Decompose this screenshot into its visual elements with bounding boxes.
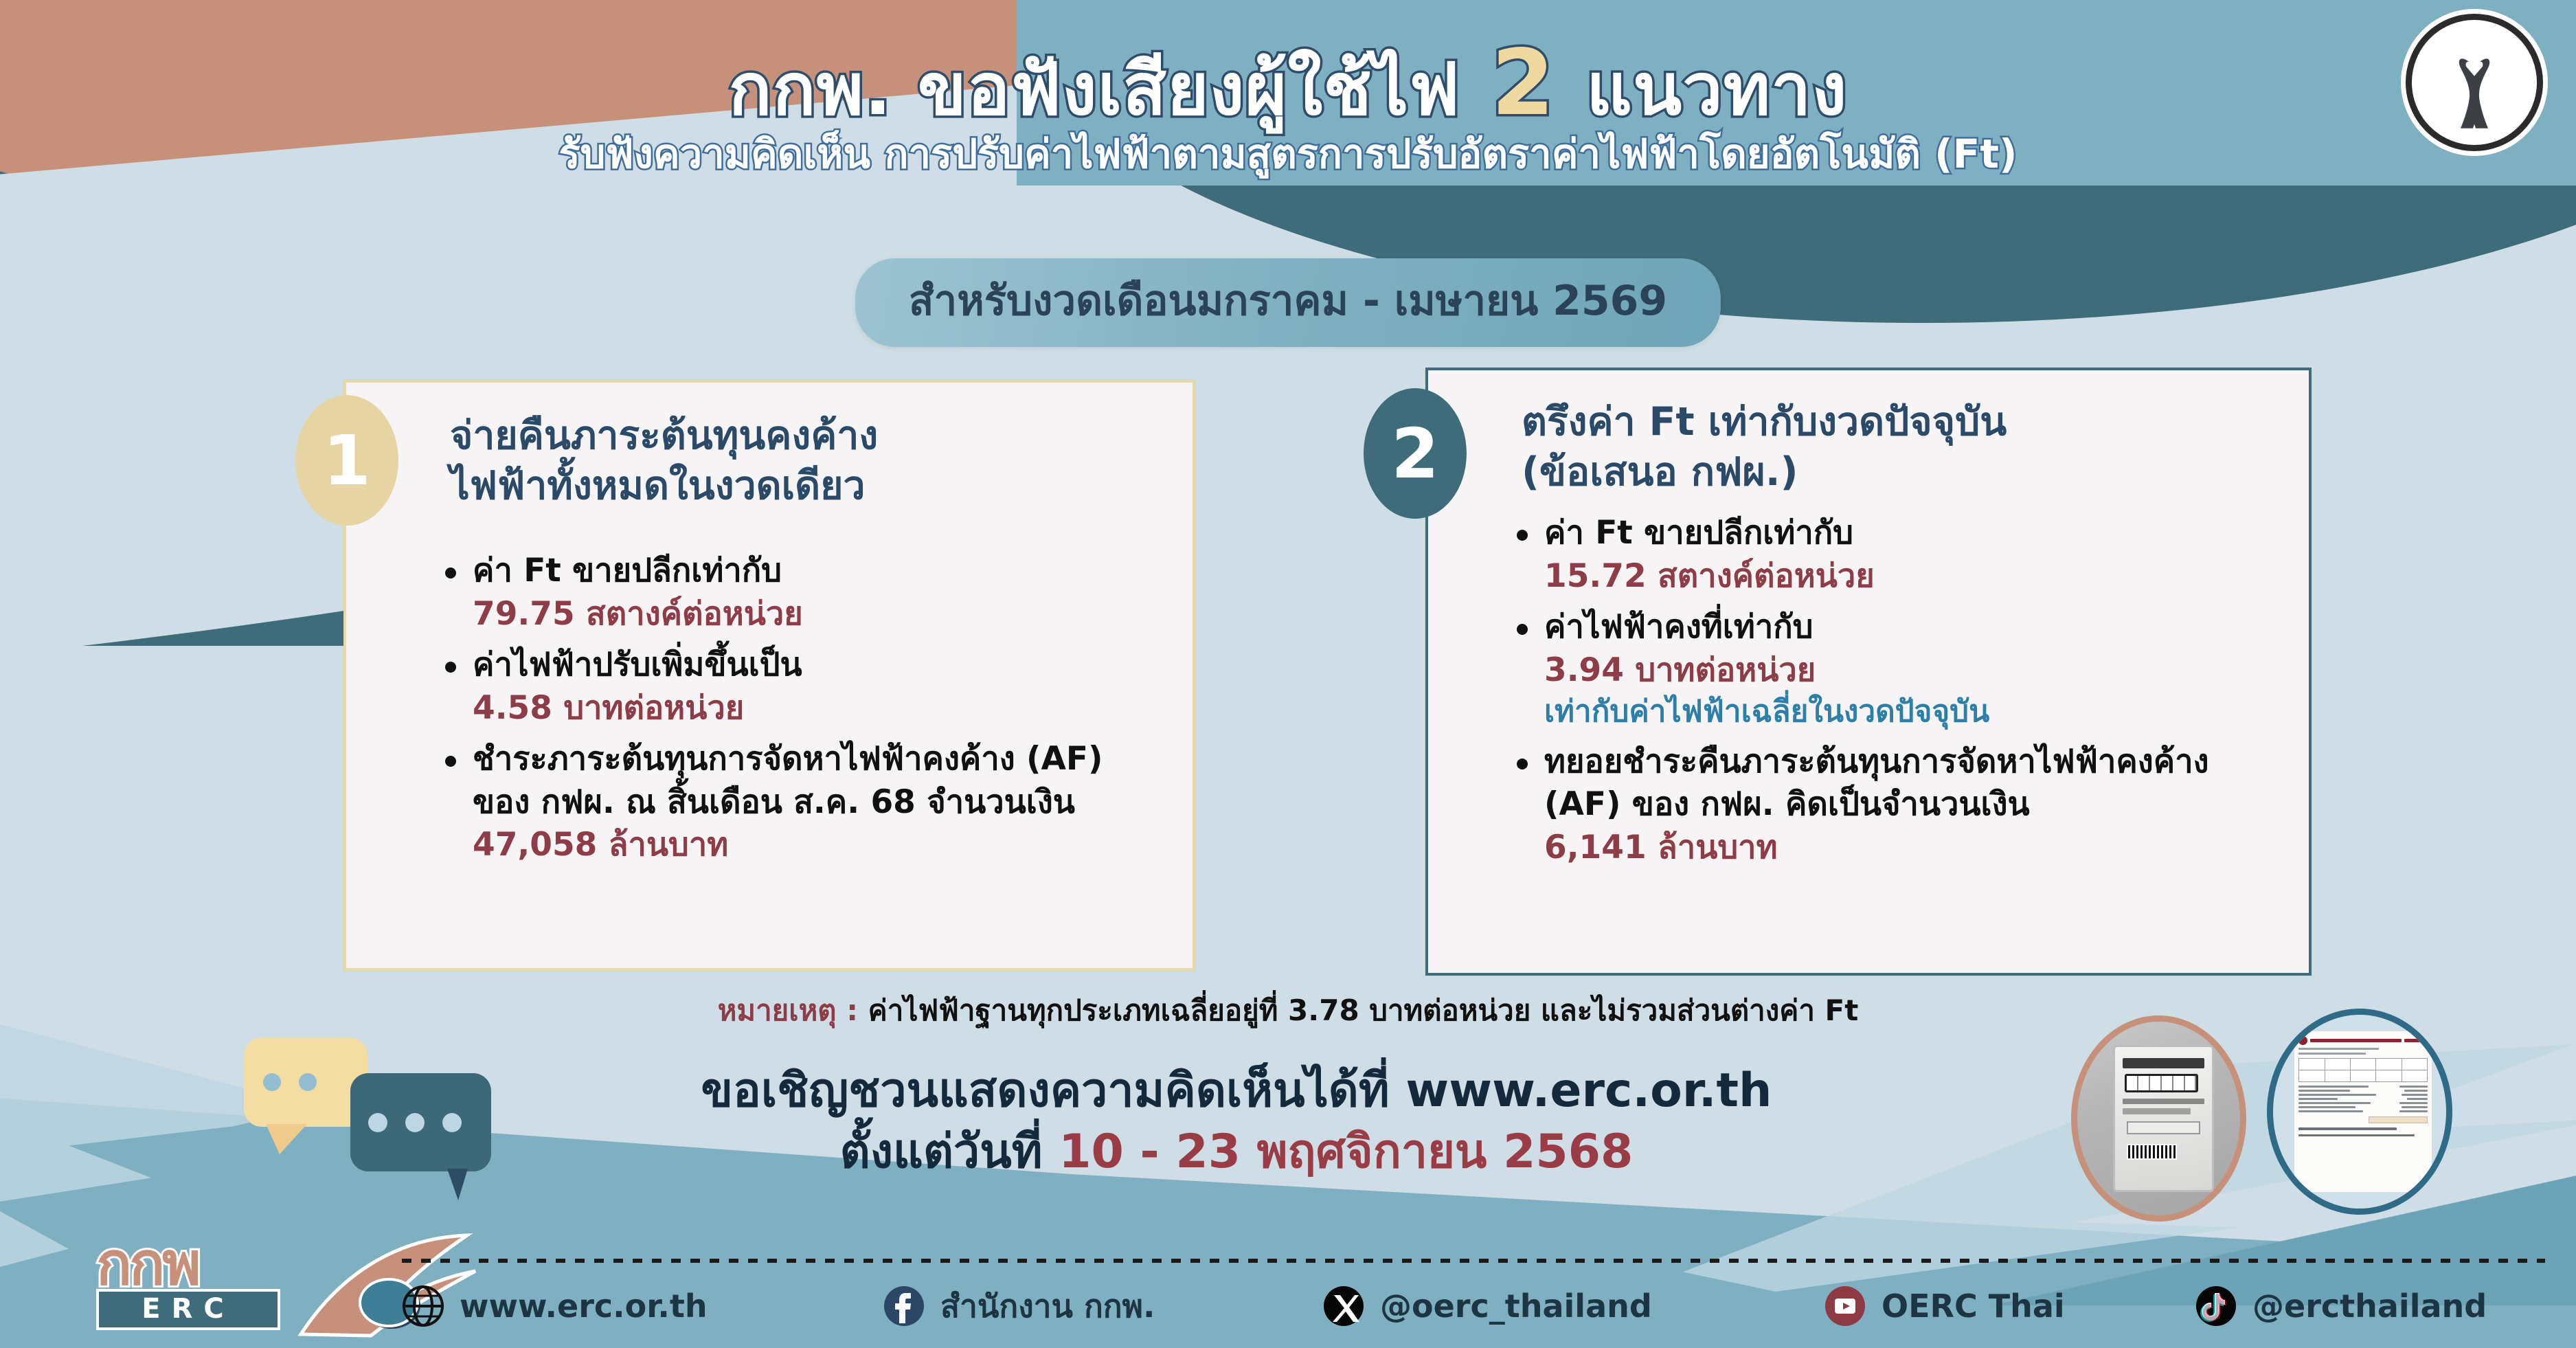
footer-divider xyxy=(402,1259,2545,1263)
bill-paper xyxy=(2294,1031,2432,1193)
infographic-canvas: กกพ. ขอฟังเสียงผู้ใช้ไฟ 2 แนวทาง รับฟังค… xyxy=(0,0,2576,1348)
option-1-heading-line1: จ่ายคืนภาระต้นทุนคงค้าง xyxy=(450,411,1144,461)
speech-bubble-icon-dark xyxy=(350,1073,491,1171)
list-item: ค่าไฟฟ้าปรับเพิ่มขึ้นเป็น 4.58 บาทต่อหน่… xyxy=(440,644,1175,730)
bill-total-amount xyxy=(2369,1116,2428,1123)
list-item: ชำระภาระต้นทุนการจัดหาไฟฟ้าคงค้าง (AF) ข… xyxy=(440,738,1175,867)
bubble-dots xyxy=(263,1073,317,1091)
cta-date-range: 10 - 23 พฤศจิกายน 2568 xyxy=(1059,1125,1633,1179)
footer-label: OERC Thai xyxy=(1882,1288,2065,1325)
page-subtitle: รับฟังความคิดเห็น การปรับค่าไฟฟ้าตามสูตร… xyxy=(0,133,2576,177)
cta-line-1: ขอเชิญชวนแสดงความคิดเห็นได้ที่ www.erc.o… xyxy=(522,1064,1951,1119)
cta-line-2: ตั้งแต่วันที่ 10 - 23 พฤศจิกายน 2568 xyxy=(522,1123,1951,1181)
electricity-bill-photo xyxy=(2267,1009,2452,1215)
mourning-ribbon-icon xyxy=(2406,14,2543,151)
meter-serial-strip xyxy=(2123,1058,2204,1068)
call-to-action: ขอเชิญชวนแสดงความคิดเห็นได้ที่ www.erc.o… xyxy=(522,1064,1951,1181)
erc-logo: กกพ ERC xyxy=(96,1237,323,1340)
footnote-text: ค่าไฟฟ้าฐานทุกประเภทเฉลี่ยอยู่ที่ 3.78 บ… xyxy=(858,993,1858,1027)
option-1-heading-line2: ไฟฟ้าทั้งหมดในงวดเดียว xyxy=(450,461,1144,511)
bubble-dots xyxy=(368,1113,462,1132)
facebook-icon xyxy=(883,1285,925,1327)
bullet-value: 6,141 ล้านบาท xyxy=(1544,827,2287,870)
bullet-text: ค่า Ft ขายปลีกเท่ากับ xyxy=(1544,514,1853,552)
option-1-bullet-list: ค่า Ft ขายปลีกเท่ากับ 79.75 สตางค์ต่อหน่… xyxy=(440,550,1175,875)
footer-item-tiktok[interactable]: @ercthailand xyxy=(2195,1285,2487,1327)
bullet-value: 4.58 บาทต่อหน่วย xyxy=(473,687,1175,730)
page-title: กกพ. ขอฟังเสียงผู้ใช้ไฟ 2 แนวทาง xyxy=(0,36,2576,131)
option-2-bullet-list: ค่า Ft ขายปลีกเท่ากับ 15.72 สตางค์ต่อหน่… xyxy=(1511,512,2287,877)
electricity-meter-photo xyxy=(2071,1015,2246,1222)
footer-label: สำนักงาน กกพ. xyxy=(940,1281,1155,1332)
footer-item-youtube[interactable]: OERC Thai xyxy=(1824,1285,2195,1327)
meter-body xyxy=(2113,1045,2214,1192)
period-badge: สำหรับงวดเดือนมกราคม - เมษายน 2569 xyxy=(855,258,1721,347)
erc-logo-abbr: ERC xyxy=(142,1293,234,1325)
globe-icon xyxy=(402,1285,444,1327)
bill-header xyxy=(2298,1036,2428,1045)
option-2-number-badge: 2 xyxy=(1364,388,1467,519)
bullet-text-2: ของ กฟผ. ณ สิ้นเดือน ส.ค. 68 จำนวนเงิน xyxy=(473,781,1175,824)
option-1-heading: จ่ายคืนภาระต้นทุนคงค้าง ไฟฟ้าทั้งหมดในงว… xyxy=(450,411,1144,511)
page-title-before: กกพ. ขอฟังเสียงผู้ใช้ไฟ xyxy=(729,47,1460,131)
cta-line-2-prefix: ตั้งแต่วันที่ xyxy=(840,1125,1059,1179)
meter-dials xyxy=(2125,1074,2198,1092)
footer-social-bar: www.erc.or.th สำนักงาน กกพ. @oerc_thaila… xyxy=(402,1275,2545,1337)
option-1-number-badge: 1 xyxy=(295,395,398,526)
footer-label: @ercthailand xyxy=(2252,1288,2487,1325)
meter-label-line-2 xyxy=(2123,1108,2191,1114)
bullet-text: ทยอยชำระคืนภาระต้นทุนการจัดหาไฟฟ้าคงค้าง xyxy=(1544,743,2209,780)
bullet-text: ค่าไฟฟ้าปรับเพิ่มขึ้นเป็น xyxy=(473,646,802,684)
bill-line-items xyxy=(2298,1086,2428,1112)
speech-bubble-icon-yellow xyxy=(244,1037,368,1127)
erc-logo-thai-word: กกพ xyxy=(96,1237,323,1293)
list-item: ค่าไฟฟ้าคงที่เท่ากับ 3.94 บาทต่อหน่วย เท… xyxy=(1511,606,2287,732)
bullet-text: ชำระภาระต้นทุนการจัดหาไฟฟ้าคงค้าง (AF) xyxy=(473,740,1103,778)
footer-item-website[interactable]: www.erc.or.th xyxy=(402,1285,883,1327)
bullet-text: ค่าไฟฟ้าคงที่เท่ากับ xyxy=(1544,608,1814,646)
meter-terminal-slot xyxy=(2127,1121,2200,1134)
bullet-value: 3.94 บาทต่อหน่วย xyxy=(1544,649,2287,693)
bullet-text-2: (AF) ของ กฟผ. คิดเป็นจำนวนเงิน xyxy=(1544,783,2287,827)
footnote-label: หมายเหตุ : xyxy=(718,993,858,1027)
footer-label: @oerc_thailand xyxy=(1380,1288,1652,1325)
header: กกพ. ขอฟังเสียงผู้ใช้ไฟ 2 แนวทาง รับฟังค… xyxy=(0,0,2576,323)
list-item: ทยอยชำระคืนภาระต้นทุนการจัดหาไฟฟ้าคงค้าง… xyxy=(1511,741,2287,870)
x-twitter-icon xyxy=(1322,1285,1365,1327)
bullet-text: ค่า Ft ขายปลีกเท่ากับ xyxy=(473,552,782,589)
footer-item-x[interactable]: @oerc_thailand xyxy=(1322,1285,1824,1327)
bullet-value: 47,058 ล้านบาท xyxy=(473,824,1175,867)
page-title-number: 2 xyxy=(1486,30,1561,136)
tiktok-icon xyxy=(2195,1285,2237,1327)
bullet-note: เท่ากับค่าไฟฟ้าเฉลี่ยในงวดปัจจุบัน xyxy=(1544,692,2287,732)
bullet-value: 79.75 สตางค์ต่อหน่วย xyxy=(473,593,1175,636)
option-2-heading-line2: (ข้อเสนอ กฟผ.) xyxy=(1522,447,2263,497)
meter-barcode xyxy=(2127,1144,2177,1160)
footer-item-facebook[interactable]: สำนักงาน กกพ. xyxy=(883,1281,1322,1332)
page-title-after: แนวทาง xyxy=(1586,47,1847,131)
meter-label-line-1 xyxy=(2123,1099,2204,1104)
option-2-heading: ตรึงค่า Ft เท่ากับงวดปัจจุบัน (ข้อเสนอ ก… xyxy=(1522,397,2263,497)
mea-seal-icon xyxy=(2298,1036,2307,1045)
list-item: ค่า Ft ขายปลีกเท่ากับ 79.75 สตางค์ต่อหน่… xyxy=(440,550,1175,636)
list-item: ค่า Ft ขายปลีกเท่ากับ 15.72 สตางค์ต่อหน่… xyxy=(1511,512,2287,598)
bullet-value: 15.72 สตางค์ต่อหน่วย xyxy=(1544,555,2287,598)
footer-label: www.erc.or.th xyxy=(460,1288,708,1325)
option-2-heading-line1: ตรึงค่า Ft เท่ากับงวดปัจจุบัน xyxy=(1522,397,2263,447)
bill-table xyxy=(2298,1058,2428,1082)
youtube-icon xyxy=(1824,1285,1866,1327)
